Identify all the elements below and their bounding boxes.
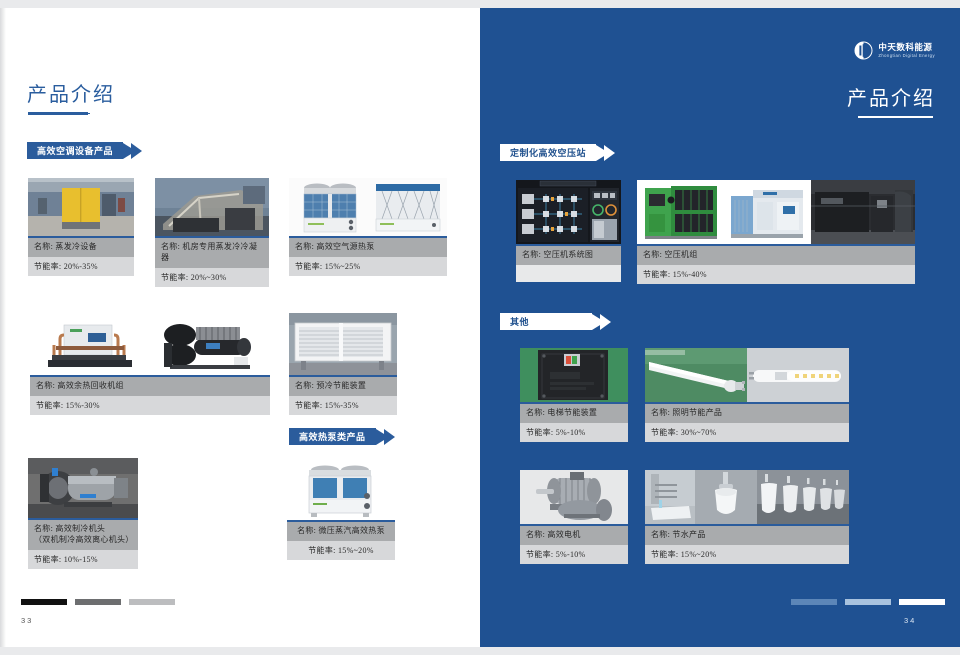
led-tube-photo-1 [645, 348, 747, 402]
chiller-head-photo [28, 458, 138, 518]
evaporative-cooling-equipment-photo [28, 178, 134, 236]
card-waste-heat-recovery-unit[interactable]: 名称: 高效余热回收机组 节能率: 15%-30% [30, 313, 270, 415]
card-machine-room-evaporative-condenser[interactable]: 名称: 机房专用蒸发冷冷凝器 节能率: 20%~30% [155, 178, 269, 287]
left-page: 产品介绍 高效空调设备产品 [0, 8, 480, 647]
card-title: 名称: 高效制冷机头 （双机制冷高效离心机头） [28, 520, 138, 550]
card-title: 名称: 空压机系统图 [516, 246, 621, 265]
card-rate: 节能率: 15%-30% [30, 396, 270, 415]
card-evaporative-cooling-equipment[interactable]: 名称: 蒸发冷设备 节能率: 20%-35% [28, 178, 134, 276]
air-source-heat-pump-photo-1 [289, 178, 368, 236]
left-footer-bars [21, 599, 175, 605]
card-rate: 节能率: 15%~20% [645, 545, 849, 564]
footer-bar-1 [21, 599, 67, 605]
elevator-energy-saving-device-photo [520, 348, 628, 402]
card-rate: 节能率: 20%~30% [155, 268, 269, 287]
water-saving-urinal-photo [695, 470, 757, 524]
card-rate: 节能率: 5%-10% [520, 545, 628, 564]
section-tag-heatpump-label: 高效热泵类产品 [299, 430, 366, 443]
card-title-line2: （双机制冷高效离心机头） [34, 535, 132, 546]
card-air-compressor-system-diagram[interactable]: 名称: 空压机系统图 [516, 180, 621, 282]
card-rate: 节能率: 30%~70% [645, 423, 849, 442]
right-footer-bars [791, 599, 945, 605]
card-air-compressor-unit[interactable]: 名称: 空压机组 节能率: 15%-40% [637, 180, 915, 284]
section-tag-hvac[interactable]: 高效空调设备产品 [27, 142, 142, 159]
card-rate: 节能率: 15%-40% [637, 265, 915, 284]
left-page-number: 33 [21, 616, 33, 625]
right-title-underline [858, 116, 933, 118]
logo-english-name: Zhongtian Digital Energy [878, 54, 935, 58]
card-water-saving-products[interactable]: 名称: 节水产品 节能率: 15%~20% [645, 470, 849, 564]
card-elevator-energy-saving-device[interactable]: 名称: 电梯节能装置 节能率: 5%-10% [520, 348, 628, 442]
left-title-underline-thin [60, 113, 90, 114]
card-title: 名称: 高效空气源热泵 [289, 238, 447, 257]
section-tag-hvac-label: 高效空调设备产品 [37, 144, 113, 157]
water-saving-sink-photo [645, 470, 695, 524]
footer-bar-3 [899, 599, 945, 605]
footer-bar-2 [845, 599, 891, 605]
card-rate: 节能率: 15%~20% [287, 541, 395, 560]
chevron-right-icon [131, 143, 142, 159]
high-efficiency-motor-photo [520, 470, 628, 524]
card-rate: 节能率: 20%-35% [28, 257, 134, 276]
air-source-heat-pump-photo-2 [368, 178, 447, 236]
card-title: 名称: 机房专用蒸发冷冷凝器 [155, 238, 269, 268]
air-compressor-scada-diagram [516, 180, 621, 244]
right-page-number: 34 [904, 616, 916, 625]
air-compressor-dark-photo [811, 180, 915, 244]
left-page-title: 产品介绍 [27, 78, 115, 107]
card-rate [516, 265, 621, 282]
chevron-right-icon [604, 145, 615, 161]
section-tag-heatpump[interactable]: 高效热泵类产品 [289, 428, 395, 445]
footer-bar-2 [75, 599, 121, 605]
card-high-efficiency-air-source-heat-pump[interactable]: 名称: 高效空气源热泵 节能率: 15%~25% [289, 178, 447, 276]
section-tag-others[interactable]: 其他 [500, 313, 611, 330]
card-title: 名称: 照明节能产品 [645, 404, 849, 423]
waste-heat-recovery-photo-2 [150, 313, 270, 375]
footer-bar-3 [129, 599, 175, 605]
card-rate: 节能率: 15%~25% [289, 257, 447, 276]
logo-chinese-name: 中天数科能源 [878, 43, 935, 52]
card-title: 名称: 蒸发冷设备 [28, 238, 134, 257]
brochure-spread: 产品介绍 高效空调设备产品 [0, 0, 960, 655]
card-high-efficiency-motor[interactable]: 名称: 高效电机 节能率: 5%-10% [520, 470, 628, 564]
card-title: 名称: 高效电机 [520, 526, 628, 545]
right-page-title: 产品介绍 [847, 82, 935, 111]
micro-pressure-steam-heat-pump-photo [287, 458, 395, 520]
air-compressor-green-photo [637, 180, 725, 244]
section-tag-air-compressor-label: 定制化高效空压站 [510, 146, 586, 159]
section-tag-others-label: 其他 [510, 315, 529, 328]
card-title: 名称: 节水产品 [645, 526, 849, 545]
footer-bar-1 [791, 599, 837, 605]
precooling-device-photo [289, 313, 397, 375]
water-saving-urinal-row-photo [757, 470, 849, 524]
section-tag-air-compressor[interactable]: 定制化高效空压站 [500, 144, 615, 161]
card-title-line1: 名称: 高效制冷机头 [34, 524, 132, 535]
chevron-right-icon [384, 429, 395, 445]
card-rate: 节能率: 15%-35% [289, 396, 397, 415]
logo-mark-icon [854, 41, 873, 60]
led-tube-photo-2 [747, 348, 849, 402]
air-compressor-blue-photo [725, 180, 811, 244]
company-logo: 中天数科能源 Zhongtian Digital Energy [854, 41, 935, 60]
card-rate: 节能率: 5%-10% [520, 423, 628, 442]
card-high-efficiency-chiller-head[interactable]: 名称: 高效制冷机头 （双机制冷高效离心机头） 节能率: 10%-15% [28, 458, 138, 569]
card-title: 名称: 预冷节能装置 [289, 377, 397, 396]
card-title: 名称: 空压机组 [637, 246, 915, 265]
card-title: 名称: 微压蒸汽高效热泵 [287, 522, 395, 541]
card-lighting-energy-saving-products[interactable]: 名称: 照明节能产品 节能率: 30%~70% [645, 348, 849, 442]
machine-room-condenser-photo [155, 178, 269, 236]
card-rate: 节能率: 10%-15% [28, 550, 138, 569]
waste-heat-recovery-photo-1 [30, 313, 150, 375]
right-page: 中天数科能源 Zhongtian Digital Energy 产品介绍 定制化… [480, 8, 960, 647]
card-title: 名称: 高效余热回收机组 [30, 377, 270, 396]
card-title: 名称: 电梯节能装置 [520, 404, 628, 423]
chevron-right-icon [600, 314, 611, 330]
card-micro-pressure-steam-heat-pump[interactable]: 名称: 微压蒸汽高效热泵 节能率: 15%~20% [287, 458, 395, 560]
card-precooling-energy-saving-device[interactable]: 名称: 预冷节能装置 节能率: 15%-35% [289, 313, 397, 415]
